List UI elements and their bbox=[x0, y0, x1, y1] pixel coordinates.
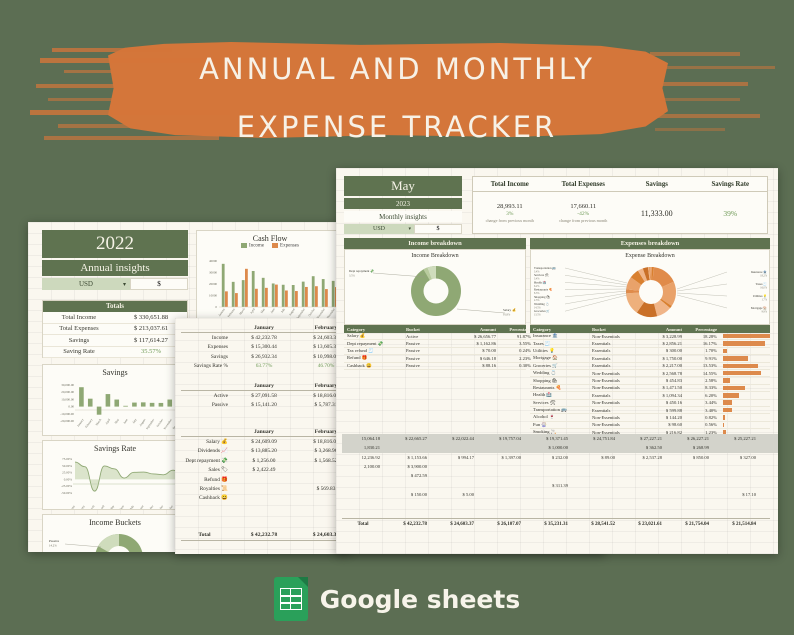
cell-category: Taxes 🧾 bbox=[530, 341, 592, 347]
svg-text:April: April bbox=[249, 307, 256, 314]
svg-text:March: March bbox=[88, 504, 96, 509]
cell-amount: $ 98.60 bbox=[640, 422, 686, 427]
svg-text:April: April bbox=[98, 504, 105, 509]
cell-amount: $ 1,094.34 bbox=[640, 393, 686, 398]
svg-text:30,000.00: 30,000.00 bbox=[61, 383, 74, 388]
cell-bucket: Essentials bbox=[592, 408, 640, 413]
svg-text:March: March bbox=[95, 417, 103, 426]
table-cell: $ 24,609.09 bbox=[233, 439, 295, 445]
currency-value[interactable]: USD bbox=[344, 224, 414, 234]
cell-category: Transportation 🚌 bbox=[530, 407, 592, 413]
annual-totals-card: Totals Total Income $ 330,651.88 Total E… bbox=[42, 300, 188, 358]
kpi-header-rate: Savings Rate bbox=[694, 177, 768, 191]
table-row: Restaurants 🍕Non-Essentials$ 1,471.508.3… bbox=[530, 385, 770, 392]
cell-amount: $ 646.18 bbox=[454, 356, 500, 361]
table-cell: $ 17.10 bbox=[713, 492, 760, 497]
chart-title: Savings Rate bbox=[43, 441, 187, 453]
svg-text:9.9%: 9.9% bbox=[762, 310, 768, 313]
cell-category: Insurance 🏦 bbox=[530, 333, 592, 339]
table-cell: $ 362.50 bbox=[619, 445, 666, 450]
cell-percentage: 0.24% bbox=[500, 348, 534, 353]
table-row: Cashback 😀Passive$ 88.160.30% bbox=[344, 363, 526, 370]
table-cell: $ 588.49 bbox=[760, 473, 778, 478]
cell-percentage: 2.23% bbox=[500, 356, 534, 361]
cell-bucket: Non-Essentials bbox=[592, 371, 640, 376]
row-label: Dept repayment 💸 bbox=[181, 458, 233, 464]
cell-bucket: Non-Essentials bbox=[592, 378, 640, 383]
table-cell: $ 150.00 bbox=[384, 492, 431, 497]
cell-percentage: 91.87% bbox=[500, 334, 534, 339]
chart-title: Cash Flow bbox=[197, 231, 343, 243]
table-cell: $ 3,900.00 bbox=[384, 464, 431, 469]
cell-percentage: 0.56% bbox=[686, 422, 720, 427]
currency-value[interactable]: USD bbox=[42, 278, 130, 290]
svg-text:-50.00%: -50.00% bbox=[61, 491, 72, 495]
total-label: Total bbox=[181, 532, 233, 538]
cell-percentage: 2.58% bbox=[686, 378, 720, 383]
svg-text:March: March bbox=[238, 306, 246, 315]
svg-text:13.5%: 13.5% bbox=[534, 314, 542, 317]
cell-amount: $ 1,750.00 bbox=[640, 356, 686, 361]
cell-bucket: Essentials bbox=[592, 348, 640, 353]
cell-amount: $ 1,162.86 bbox=[454, 341, 500, 346]
year-selector[interactable]: 2023 bbox=[344, 198, 462, 209]
total-cell: $ 21,514.84 bbox=[713, 522, 760, 527]
svg-text:1.7%: 1.7% bbox=[762, 298, 768, 301]
table-cell: $ 27,227.21 bbox=[619, 436, 666, 441]
banner-title-line2: Expense Tracker bbox=[0, 110, 794, 144]
income-breakdown-header: Income breakdown bbox=[344, 238, 526, 249]
table-row: Wedding 💍Non-Essentials$ 2,568.7814.55% bbox=[530, 370, 770, 377]
svg-text:February: February bbox=[84, 417, 94, 428]
total-cell: $ 24,603.37 bbox=[431, 522, 478, 527]
svg-text:May: May bbox=[259, 306, 266, 313]
table-cell: $ 5.00 bbox=[431, 492, 478, 497]
table-cell: 12,236.92 bbox=[342, 455, 384, 460]
cell-percentage: 3.55% bbox=[500, 341, 534, 346]
income-callout-value-2: 91.8% bbox=[503, 314, 511, 317]
svg-text:July: July bbox=[131, 417, 137, 424]
cell-bucket: Passive bbox=[406, 348, 454, 353]
cell-bar bbox=[720, 386, 770, 391]
cell-category: Alcohol 🍷 bbox=[530, 414, 592, 420]
monthly-insights-sheet[interactable]: May 2023 Monthly insights USD $ Total In… bbox=[336, 168, 778, 554]
cell-bar bbox=[720, 371, 770, 376]
cell-category: Utilities 💡 bbox=[530, 348, 592, 354]
column-header: January bbox=[233, 383, 295, 389]
table-row: 1,830.21$ 1,000.00$ 362.50$ 268.99$ 22,6… bbox=[342, 443, 778, 452]
svg-text:October: October bbox=[156, 504, 165, 509]
total-cell: $ 24,820.84 bbox=[760, 522, 778, 527]
cell-bar bbox=[720, 349, 770, 354]
income-breakdown-table: CategoryBucketAmountPercentageSalary 💰Ac… bbox=[344, 325, 526, 370]
kpi-change: -42% bbox=[577, 211, 589, 217]
cell-category: Mortgage 🏠 bbox=[530, 355, 592, 361]
table-row: Groceries 🛒Essentials$ 2,217.0013.53% bbox=[530, 363, 770, 370]
buckets-value-passive: 14.2% bbox=[49, 544, 57, 548]
kpi-value: 28,993.11 bbox=[497, 203, 523, 210]
cash-flow-svg: 400003000020000100000 JanuaryFebruaryMar… bbox=[197, 249, 345, 327]
column-header: January bbox=[233, 325, 295, 331]
table-cell: $ 1,000.00 bbox=[525, 445, 572, 450]
cell-category: Fun 🎡 bbox=[530, 422, 592, 428]
kpi-note: change from previous month bbox=[486, 218, 534, 223]
table-cell: $ 850.00 bbox=[666, 455, 713, 460]
expenses-breakdown-header: Expenses breakdown bbox=[530, 238, 770, 249]
column-header: Category bbox=[530, 327, 592, 332]
svg-text:50.00%: 50.00% bbox=[62, 464, 72, 468]
table-cell: $ 1,397.00 bbox=[478, 455, 525, 460]
svg-text:20000: 20000 bbox=[209, 282, 217, 286]
kpi-value: 17,660.11 bbox=[570, 203, 596, 210]
svg-text:April: April bbox=[104, 418, 111, 425]
cell-category: Dept repayment 💸 bbox=[344, 341, 406, 347]
cell-category: Services 🛠 bbox=[530, 400, 592, 406]
column-header: Bucket bbox=[406, 327, 454, 332]
row-label: Dividends 📈 bbox=[181, 448, 233, 454]
svg-text:Mortgage 🏠: Mortgage 🏠 bbox=[751, 306, 767, 310]
column-header: Percentage bbox=[500, 327, 534, 332]
svg-text:75.00%: 75.00% bbox=[62, 457, 72, 461]
table-cell: $ 27,091.58 bbox=[233, 393, 295, 399]
svg-text:Transportation 🚌: Transportation 🚌 bbox=[534, 266, 556, 270]
google-sheets-footer: Google sheets bbox=[0, 577, 794, 621]
cell-amount: $ 88.16 bbox=[454, 363, 500, 368]
cell-category: Cashback 😀 bbox=[344, 363, 406, 369]
cell-amount: $ 144.20 bbox=[640, 415, 686, 420]
savings-chart-svg: 30,000.0020,000.0010,000.000.00-10,000.0… bbox=[43, 377, 189, 435]
cell-category: Tax refund 🧾 bbox=[344, 348, 406, 354]
table-cell: $ 994.17 bbox=[431, 455, 478, 460]
kpi-total-expenses: 17,660.11 -42% change from previous mont… bbox=[547, 192, 621, 234]
svg-text:Wedding 💍: Wedding 💍 bbox=[534, 302, 550, 306]
cell-bucket: Non-Essentials bbox=[592, 415, 640, 420]
svg-text:0.00%: 0.00% bbox=[64, 477, 73, 481]
table-cell: $ 15,141.20 bbox=[233, 402, 295, 408]
total-label: Total bbox=[342, 522, 384, 527]
grand-total-row: Total$ 42,232.78$ 24,603.37$ 26,107.07$ … bbox=[342, 518, 770, 529]
table-cell: 2,100.00 bbox=[342, 464, 384, 469]
cell-bucket: Non-Essentials bbox=[592, 400, 640, 405]
kpi-value: 39% bbox=[723, 209, 737, 218]
table-cell: $ 22,665.27 bbox=[384, 436, 431, 441]
cell-percentage: 3.40% bbox=[686, 408, 720, 413]
kpi-header-savings: Savings bbox=[620, 177, 694, 191]
svg-text:June: June bbox=[122, 417, 129, 424]
column-header: Category bbox=[344, 327, 406, 332]
table-cell: $ 8,422.49 bbox=[760, 464, 778, 469]
cell-percentage: 8.33% bbox=[686, 385, 720, 390]
table-cell: 15,064.18 bbox=[342, 436, 384, 441]
svg-text:June: June bbox=[269, 306, 276, 313]
column-header: Amount bbox=[640, 327, 686, 332]
totals-header: Totals bbox=[43, 301, 187, 312]
table-header-row: CategoryBucketAmountPercentage bbox=[344, 325, 526, 333]
cell-amount: $ 454.83 bbox=[640, 378, 686, 383]
cell-bar bbox=[720, 334, 770, 339]
table-row: Services 🛠Non-Essentials$ 450.163.44% bbox=[530, 400, 770, 407]
svg-text:January: January bbox=[217, 306, 226, 316]
table-row: 15,064.18$ 22,665.27$ 22,022.44$ 19,757.… bbox=[342, 434, 778, 443]
cell-bucket: Non-Essentials bbox=[592, 422, 640, 427]
cell-bar bbox=[720, 393, 770, 398]
row-label: Saving Rate bbox=[43, 348, 115, 355]
header-banner: Annual and Monthly Expense Tracker bbox=[0, 14, 794, 154]
cell-amount: $ 300.00 bbox=[640, 348, 686, 353]
brush-streak bbox=[48, 98, 158, 101]
cell-amount: $ 1,471.50 bbox=[640, 385, 686, 390]
income-donut-svg: Dept repayment 💸 3.5% Salary 💰 91.8% bbox=[345, 259, 527, 321]
svg-text:September: September bbox=[144, 504, 154, 509]
cell-bucket: Essentials bbox=[592, 356, 640, 361]
kpi-values: 28,993.11 3% change from previous month … bbox=[473, 192, 767, 234]
cell-bar bbox=[720, 341, 770, 346]
table-cell: $ 89.00 bbox=[572, 455, 619, 460]
table-cell: $ 15,300.44 bbox=[233, 344, 295, 350]
kpi-header-expenses: Total Expenses bbox=[547, 177, 621, 191]
cell-category: Salary 💰 bbox=[344, 333, 406, 339]
row-label: Savings bbox=[181, 354, 233, 360]
svg-text:June: June bbox=[119, 504, 126, 509]
cell-amount: $ 2,568.78 bbox=[640, 371, 686, 376]
svg-text:10,000.00: 10,000.00 bbox=[61, 397, 74, 402]
cell-bar bbox=[720, 356, 770, 361]
kpi-value: 11,333.00 bbox=[641, 209, 673, 218]
total-cell: $ 42,232.78 bbox=[233, 532, 295, 538]
table-cell: $ 26,227.21 bbox=[666, 436, 713, 441]
table-cell: $ 311.39 bbox=[525, 483, 572, 488]
cell-category: Shopping 🛍 bbox=[530, 378, 592, 384]
cash-flow-chart: Cash Flow Income Expenses 40000300002000… bbox=[196, 230, 344, 328]
savings-rate-svg: 75.00%50.00%25.00%0.00%-25.00%-50.00% Ja… bbox=[43, 453, 189, 509]
chart-title: Income Breakdown bbox=[345, 250, 525, 259]
table-row: Shopping 🛍Non-Essentials$ 454.832.58% bbox=[530, 377, 770, 384]
chart-title: Expense Breakdown bbox=[531, 250, 769, 259]
table-row: Refund 🎁Passive$ 646.182.23% bbox=[344, 355, 526, 362]
svg-text:Utilities 💡: Utilities 💡 bbox=[753, 294, 767, 298]
cell-amount: $ 450.16 bbox=[640, 400, 686, 405]
cell-bucket: Passive bbox=[406, 363, 454, 368]
cell-percentage: 3.44% bbox=[686, 400, 720, 405]
table-row: 2,100.00$ 3,900.00$ 8,422.49 bbox=[342, 462, 778, 471]
total-cell: $ 26,107.07 bbox=[478, 522, 525, 527]
cell-bar bbox=[720, 415, 770, 420]
column-header: January bbox=[233, 429, 295, 435]
svg-text:August: August bbox=[136, 504, 144, 509]
column-header: Percentage bbox=[686, 327, 720, 332]
table-cell: 63.77% bbox=[233, 363, 295, 369]
table-cell: $ 273,442.17 bbox=[760, 436, 778, 441]
cell-amount: $ 26,656.77 bbox=[454, 334, 500, 339]
cell-percentage: 16.17% bbox=[686, 341, 720, 346]
income-buckets-svg: Passive 14.2% Active 85.8% bbox=[43, 527, 189, 552]
expense-donut-card: Expense Breakdown Transportation 🚌3.4%Se… bbox=[530, 249, 770, 325]
cell-percentage: 18.28% bbox=[686, 334, 720, 339]
cell-category: Groceries 🛒 bbox=[530, 363, 592, 369]
svg-text:Groceries 🛒: Groceries 🛒 bbox=[534, 309, 550, 313]
svg-text:18.2%: 18.2% bbox=[760, 274, 768, 277]
annual-year-title: 2022 bbox=[42, 230, 188, 258]
table-cell: $ 24,751.84 bbox=[572, 436, 619, 441]
cell-bar bbox=[720, 408, 770, 413]
table-row: $ 150.00$ 5.00$ 17.10$ 172.10 bbox=[342, 490, 778, 499]
currency-selector[interactable]: USD $ bbox=[344, 224, 462, 234]
table-cell: $ 881.22 bbox=[760, 483, 778, 488]
svg-text:0.00: 0.00 bbox=[68, 405, 74, 409]
cell-bar bbox=[720, 423, 770, 428]
svg-text:Health 🏥: Health 🏥 bbox=[534, 280, 547, 284]
currency-selector[interactable]: USD $ bbox=[42, 278, 188, 290]
svg-text:July: July bbox=[280, 306, 286, 313]
table-row: Mortgage 🏠Essentials$ 1,750.009.91% bbox=[530, 355, 770, 362]
table-row: Total Expenses $ 213,037.61 bbox=[43, 324, 187, 336]
svg-text:May: May bbox=[109, 504, 116, 509]
cell-amount: $ 2,856.21 bbox=[640, 341, 686, 346]
total-cell: $ 23,021.61 bbox=[619, 522, 666, 527]
cell-bucket: Passive bbox=[406, 356, 454, 361]
cell-amount: $ 599.88 bbox=[640, 408, 686, 413]
table-row: Dept repayment 💸Passive$ 1,162.863.55% bbox=[344, 340, 526, 347]
column-header: Bucket bbox=[592, 327, 640, 332]
table-cell: $ 327.00 bbox=[713, 455, 760, 460]
table-row: Health 🏥Essentials$ 1,094.346.20% bbox=[530, 392, 770, 399]
chart-title: Savings bbox=[43, 365, 187, 377]
row-label: Refund 🎁 bbox=[181, 477, 233, 483]
svg-text:Services 🛠: Services 🛠 bbox=[534, 273, 549, 277]
table-cell: $ 232.00 bbox=[525, 455, 572, 460]
month-title: May bbox=[344, 176, 462, 196]
income-breakdown-panel: Income breakdown Income Breakdown Dept r… bbox=[344, 238, 526, 370]
kpi-savings-rate: 39% bbox=[694, 192, 768, 234]
kpi-change: 3% bbox=[506, 211, 513, 217]
table-cell: $ 472.59 bbox=[384, 473, 431, 478]
income-callout-label: Dept repayment 💸 bbox=[349, 269, 374, 273]
table-cell: $ 1,256.00 bbox=[233, 458, 295, 464]
table-row: Total Income $ 330,651.88 bbox=[43, 312, 187, 324]
cell-percentage: 13.53% bbox=[686, 363, 720, 368]
svg-text:September: September bbox=[145, 418, 155, 430]
kpi-header-income: Total Income bbox=[473, 177, 547, 191]
cell-percentage: 6.20% bbox=[686, 393, 720, 398]
income-donut-card: Income Breakdown Dept repayment 💸 3.5% S… bbox=[344, 249, 526, 325]
cell-bucket: Active bbox=[406, 334, 454, 339]
svg-text:November: November bbox=[164, 504, 174, 509]
row-label: Active bbox=[181, 393, 233, 399]
monthly-subtitle: Monthly insights bbox=[344, 211, 462, 222]
cell-percentage: 1.70% bbox=[686, 348, 720, 353]
kpi-savings: 11,333.00 bbox=[620, 192, 694, 234]
table-row: Transportation 🚌Essentials$ 599.883.40% bbox=[530, 407, 770, 414]
table-cell: $ 19,371.45 bbox=[525, 436, 572, 441]
savings-bar-chart: Savings 30,000.0020,000.0010,000.000.00-… bbox=[42, 364, 188, 436]
kpi-note: change from previous month bbox=[559, 218, 607, 223]
expenses-breakdown-panel: Expenses breakdown Expense Breakdown Tra… bbox=[530, 238, 770, 451]
svg-text:Restaurants 🍕: Restaurants 🍕 bbox=[534, 288, 553, 292]
cell-amount: $ 70.00 bbox=[454, 348, 500, 353]
table-cell: $ 13,885.20 bbox=[233, 448, 295, 454]
cell-category: Refund 🎁 bbox=[344, 355, 406, 361]
row-label: Passive bbox=[181, 402, 233, 408]
cell-bucket: Non-Essentials bbox=[592, 385, 640, 390]
table-row: Savings $ 117,614.27 bbox=[43, 335, 187, 347]
cell-bucket: Essentials bbox=[592, 393, 640, 398]
banner-title-line1: Annual and Monthly bbox=[0, 52, 794, 86]
cell-bucket: Non-Essentials bbox=[592, 334, 640, 339]
svg-text:May: May bbox=[114, 417, 121, 424]
cell-bucket: Essentials bbox=[592, 341, 640, 346]
chart-title: Income Buckets bbox=[43, 515, 187, 527]
table-cell: $ 24,470.55 bbox=[760, 455, 778, 460]
table-cell: 1,830.21 bbox=[342, 445, 384, 450]
table-row: 12,236.92$ 1,153.66$ 994.17$ 1,397.00$ 2… bbox=[342, 453, 778, 462]
table-cell: $ 22,022.44 bbox=[431, 436, 478, 441]
table-cell: $ 26,932.34 bbox=[233, 354, 295, 360]
cell-bucket: Passive bbox=[406, 341, 454, 346]
table-cell: $ 25,227.21 bbox=[713, 436, 760, 441]
svg-text:-10,000.00: -10,000.00 bbox=[60, 412, 74, 417]
column-header: Amount bbox=[454, 327, 500, 332]
table-row: Tax refund 🧾Passive$ 70.000.24% bbox=[344, 348, 526, 355]
svg-text:0: 0 bbox=[215, 305, 217, 309]
kpi-headers: Total Income Total Expenses Savings Savi… bbox=[473, 177, 767, 192]
table-row: Alcohol 🍷Non-Essentials$ 144.200.82% bbox=[530, 414, 770, 421]
table-cell: $ 1,153.66 bbox=[384, 455, 431, 460]
svg-text:January: January bbox=[67, 504, 76, 509]
svg-text:February: February bbox=[76, 504, 86, 509]
total-cell: $ 35,231.31 bbox=[525, 522, 572, 527]
svg-text:February: February bbox=[227, 306, 237, 317]
table-row: $ 472.59$ 588.49 bbox=[342, 471, 778, 480]
kpi-total-income: 28,993.11 3% change from previous month bbox=[473, 192, 547, 234]
table-cell: $ 19,757.04 bbox=[478, 436, 525, 441]
brush-streak bbox=[660, 98, 740, 101]
cell-bucket: Essentials bbox=[592, 363, 640, 368]
cell-amount: $ 2,217.00 bbox=[640, 363, 686, 368]
table-row: Insurance 🏦Non-Essentials$ 3,228.9918.28… bbox=[530, 333, 770, 340]
table-row: Salary 💰Active$ 26,656.7791.87% bbox=[344, 333, 526, 340]
cell-percentage: 14.55% bbox=[686, 371, 720, 376]
currency-symbol: $ bbox=[130, 278, 188, 290]
buckets-label-passive: Passive bbox=[49, 539, 60, 543]
cell-percentage: 0.30% bbox=[500, 363, 534, 368]
svg-text:August: August bbox=[138, 418, 146, 427]
total-cell: $ 21,754.04 bbox=[666, 522, 713, 527]
svg-text:July: July bbox=[129, 504, 135, 509]
cell-amount: $ 3,228.99 bbox=[640, 334, 686, 339]
table-cell: $ 22,674.96 bbox=[760, 445, 778, 450]
table-row: Utilities 💡Essentials$ 300.001.70% bbox=[530, 348, 770, 355]
income-buckets-chart: Income Buckets Passive 14.2% Active 85.8… bbox=[42, 514, 188, 552]
expenses-breakdown-table: CategoryBucketAmountPercentageInsurance … bbox=[530, 325, 770, 451]
total-cell: $ 28,541.52 bbox=[572, 522, 619, 527]
row-label: Royalties 📜 bbox=[181, 486, 233, 492]
cell-category: Wedding 💍 bbox=[530, 370, 592, 376]
row-label: Cashback 😀 bbox=[181, 495, 233, 501]
svg-text:-20,000.00: -20,000.00 bbox=[60, 419, 74, 424]
google-sheets-icon bbox=[274, 577, 308, 621]
svg-text:40000: 40000 bbox=[209, 259, 217, 263]
total-cell: $ 42,232.78 bbox=[384, 522, 431, 527]
cell-bar bbox=[720, 400, 770, 405]
table-cell: $ 268.99 bbox=[666, 445, 713, 450]
cell-percentage: 9.91% bbox=[686, 356, 720, 361]
table-row: Saving Rate 35.57% bbox=[43, 347, 187, 359]
svg-text:Taxes 🧾: Taxes 🧾 bbox=[756, 282, 768, 286]
svg-text:10000: 10000 bbox=[209, 293, 217, 297]
svg-text:August: August bbox=[288, 307, 296, 316]
cell-category: Restaurants 🍕 bbox=[530, 385, 592, 391]
row-label: Expenses bbox=[181, 344, 233, 350]
